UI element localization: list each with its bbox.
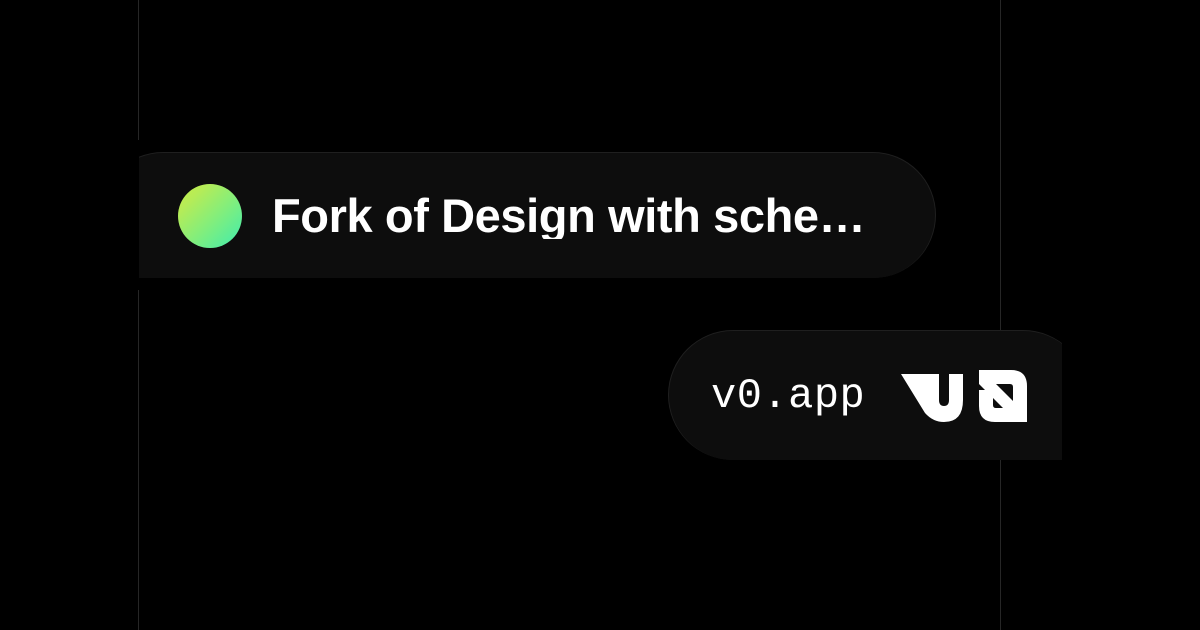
page-title: Fork of Design with scheduling [272, 192, 891, 239]
project-title-card[interactable]: Fork of Design with scheduling [100, 152, 936, 278]
brand-domain-label: v0.app [711, 375, 865, 417]
project-avatar-gradient-circle-icon [178, 184, 242, 248]
og-preview-canvas: Fork of Design with scheduling v0.app [0, 0, 1200, 630]
brand-badge[interactable]: v0.app [668, 330, 1088, 460]
grid-rule-right [1000, 0, 1001, 630]
grid-rule-left [138, 0, 139, 630]
v0-logo-icon [901, 360, 1029, 432]
